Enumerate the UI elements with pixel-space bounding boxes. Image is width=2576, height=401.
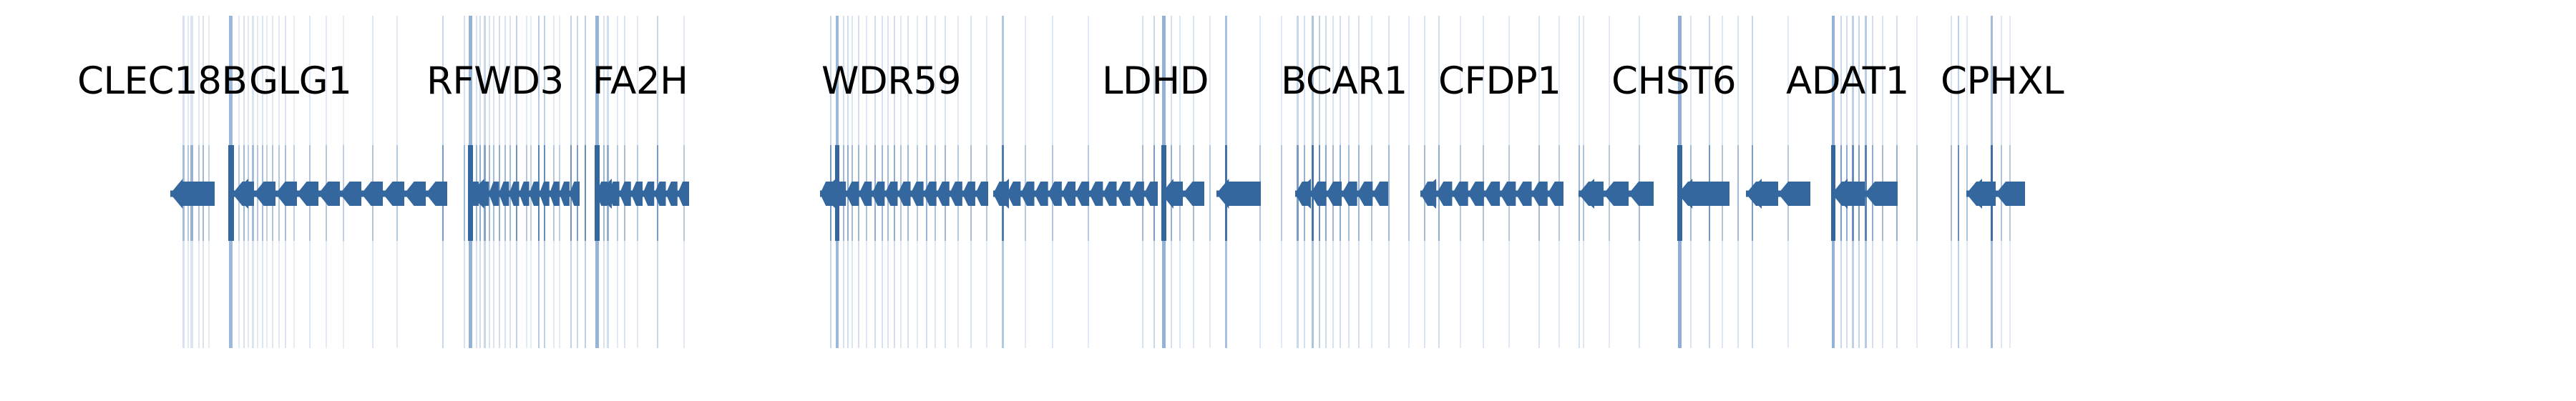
gene-label: CFDP1 <box>1438 60 1561 103</box>
gene-label: CLEC18B <box>77 60 247 103</box>
gene-label: CPHXL <box>1941 60 2064 103</box>
gene-label: RFWD3 <box>426 60 564 103</box>
gene-label: GLG1 <box>249 60 351 103</box>
genome-browser-panel: CLEC18BGLG1RFWD3FA2HWDR59LDHDBCAR1CFDP1C… <box>0 0 2576 401</box>
gene-label: ADAT1 <box>1786 60 1909 103</box>
gene-label: LDHD <box>1102 60 1209 103</box>
gene-label: BCAR1 <box>1281 60 1407 103</box>
gene-label: FA2H <box>592 60 688 103</box>
gene-label-layer: CLEC18BGLG1RFWD3FA2HWDR59LDHDBCAR1CFDP1C… <box>0 0 2576 401</box>
gene-label: CHST6 <box>1611 60 1736 103</box>
gene-label: WDR59 <box>821 60 961 103</box>
